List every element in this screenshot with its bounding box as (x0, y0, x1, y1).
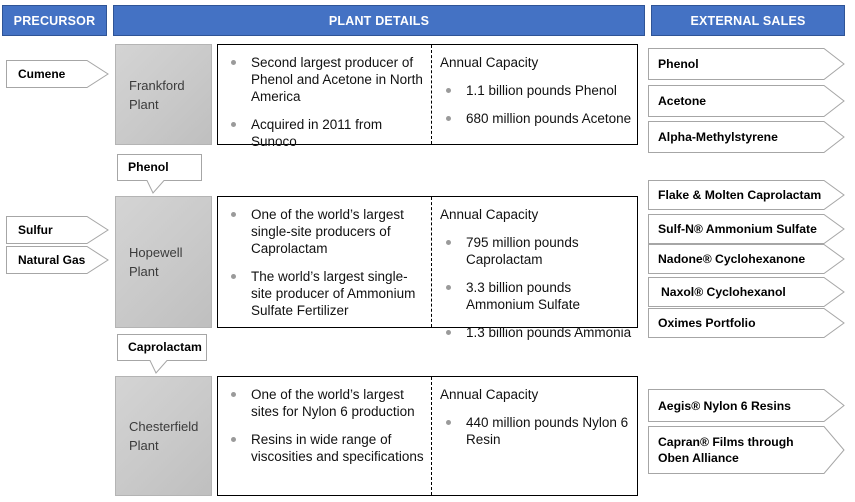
capacity-title: Annual Capacity (440, 206, 637, 223)
capacity-list: 1.1 billion pounds Phenol 680 million po… (440, 82, 635, 127)
external-sales-label: Aegis® Nylon 6 Resins (658, 389, 791, 422)
plant-highlights-frankford: Second largest producer of Phenol and Ac… (225, 54, 425, 161)
plant-name-hopewell: HopewellPlant (129, 243, 182, 281)
callout-phenol: Phenol (117, 154, 202, 194)
plant-highlights-chesterfield: One of the world’s largest sites for Nyl… (225, 386, 425, 476)
external-sales-label: Sulf-N® Ammonium Sulfate (658, 214, 817, 244)
list-item: 1.1 billion pounds Phenol (440, 82, 635, 99)
external-sales-chevron-phenol[interactable]: Phenol (648, 48, 845, 80)
external-sales-chevron-nadone-cyclohexanone[interactable]: Nadone® Cyclohexanone (648, 244, 845, 274)
highlight-list: Second largest producer of Phenol and Ac… (225, 54, 425, 150)
list-item: Second largest producer of Phenol and Ac… (225, 54, 425, 105)
external-sales-label: Naxol® Cyclohexanol (661, 277, 786, 307)
external-sales-chevron-acetone[interactable]: Acetone (648, 85, 845, 117)
external-sales-label: Capran® Films through Oben Alliance (658, 426, 808, 466)
plant-name-chesterfield: ChesterfieldPlant (129, 417, 198, 455)
capacity-title: Annual Capacity (440, 54, 635, 71)
precursor-label: Natural Gas (18, 246, 85, 274)
plant-value-chain-diagram: PRECURSOR PLANT DETAILS EXTERNAL SALES C… (0, 0, 855, 502)
detail-divider (431, 377, 432, 495)
list-item: 3.3 billion pounds Ammonium Sulfate (440, 279, 637, 313)
plant-box-frankford[interactable]: FrankfordPlant (115, 44, 212, 145)
list-item: 1.3 billion pounds Ammonia (440, 324, 637, 341)
plant-name-frankford: FrankfordPlant (129, 76, 185, 114)
external-sales-chevron-aegis-nylon-6-resins[interactable]: Aegis® Nylon 6 Resins (648, 389, 845, 422)
list-item: One of the world’s largest sites for Nyl… (225, 386, 425, 420)
list-item: 680 million pounds Acetone (440, 110, 635, 127)
list-item: Resins in wide range of viscosities and … (225, 431, 425, 465)
precursor-label: Cumene (18, 60, 65, 88)
external-sales-chevron-capran-films-oben-alliance[interactable]: Capran® Films through Oben Alliance (648, 426, 845, 474)
callout-caprolactam: Caprolactam (117, 334, 207, 374)
plant-box-chesterfield[interactable]: ChesterfieldPlant (115, 376, 212, 496)
detail-divider (431, 197, 432, 327)
detail-box-frankford: Second largest producer of Phenol and Ac… (217, 44, 638, 145)
precursor-chevron-natural-gas[interactable]: Natural Gas (6, 246, 109, 274)
external-sales-label: Alpha-Methylstyrene (658, 121, 778, 153)
precursor-label: Sulfur (18, 216, 53, 244)
capacity-frankford: Annual Capacity 1.1 billion pounds Pheno… (440, 54, 635, 138)
capacity-hopewell: Annual Capacity 795 million pounds Capro… (440, 206, 637, 352)
plant-box-hopewell[interactable]: HopewellPlant (115, 196, 212, 328)
external-sales-label: Phenol (658, 48, 699, 80)
capacity-list: 795 million pounds Caprolactam 3.3 billi… (440, 234, 637, 341)
detail-box-chesterfield: One of the world’s largest sites for Nyl… (217, 376, 638, 496)
external-sales-chevron-oximes-portfolio[interactable]: Oximes Portfolio (648, 308, 845, 338)
header-plant-details: PLANT DETAILS (113, 5, 645, 36)
list-item: 440 million pounds Nylon 6 Resin (440, 414, 635, 448)
external-sales-chevron-alpha-methylstyrene[interactable]: Alpha-Methylstyrene (648, 121, 845, 153)
list-item: 795 million pounds Caprolactam (440, 234, 637, 268)
external-sales-label: Flake & Molten Caprolactam (658, 180, 821, 210)
precursor-chevron-sulfur[interactable]: Sulfur (6, 216, 109, 244)
external-sales-chevron-naxol-cyclohexanol[interactable]: Naxol® Cyclohexanol (648, 277, 845, 307)
list-item: Acquired in 2011 from Sunoco (225, 116, 425, 150)
header-precursor: PRECURSOR (2, 5, 107, 36)
highlight-list: One of the world’s largest sites for Nyl… (225, 386, 425, 465)
detail-divider (431, 45, 432, 144)
plant-highlights-hopewell: One of the world’s largest single-site p… (225, 206, 425, 330)
detail-box-hopewell: One of the world’s largest single-site p… (217, 196, 638, 328)
external-sales-label: Oximes Portfolio (658, 308, 756, 338)
header-external-sales: EXTERNAL SALES (651, 5, 845, 36)
external-sales-label: Acetone (658, 85, 706, 117)
capacity-title: Annual Capacity (440, 386, 635, 403)
capacity-chesterfield: Annual Capacity 440 million pounds Nylon… (440, 386, 635, 459)
external-sales-chevron-flake-molten-caprolactam[interactable]: Flake & Molten Caprolactam (648, 180, 845, 210)
capacity-list: 440 million pounds Nylon 6 Resin (440, 414, 635, 448)
external-sales-chevron-sulf-n-ammonium-sulfate[interactable]: Sulf-N® Ammonium Sulfate (648, 214, 845, 244)
external-sales-label: Nadone® Cyclohexanone (658, 244, 805, 274)
list-item: One of the world’s largest single-site p… (225, 206, 425, 257)
precursor-chevron-cumene[interactable]: Cumene (6, 60, 109, 88)
highlight-list: One of the world’s largest single-site p… (225, 206, 425, 319)
callout-label: Phenol (128, 154, 169, 180)
list-item: The world’s largest single-site producer… (225, 268, 425, 319)
callout-label: Caprolactam (128, 334, 202, 360)
